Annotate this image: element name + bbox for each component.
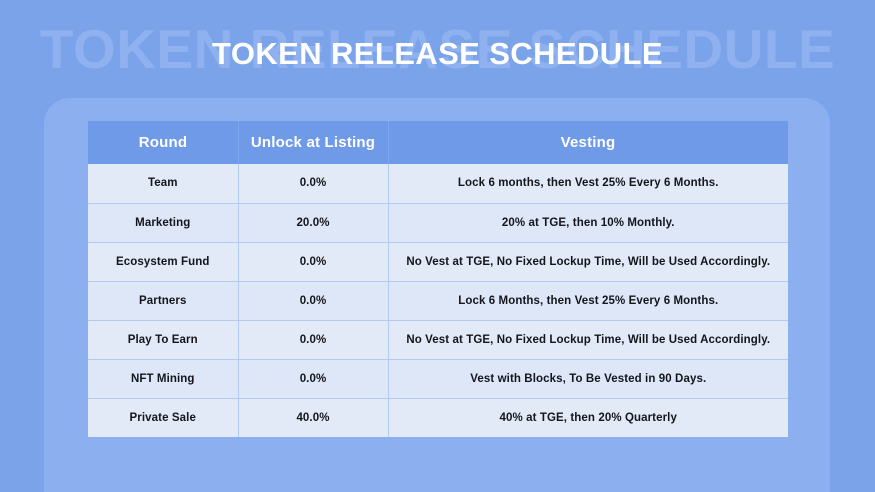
cell-vesting: No Vest at TGE, No Fixed Lockup Time, Wi… <box>388 320 788 359</box>
cell-unlock: 20.0% <box>238 203 388 242</box>
cell-round: Marketing <box>88 203 238 242</box>
cell-round: Private Sale <box>88 398 238 437</box>
token-release-table: Round Unlock at Listing Vesting Team0.0%… <box>88 121 788 437</box>
cell-unlock: 40.0% <box>238 398 388 437</box>
page-title: TOKEN RELEASE SCHEDULE <box>0 38 875 71</box>
cell-vesting: Vest with Blocks, To Be Vested in 90 Day… <box>388 359 788 398</box>
cell-vesting: Lock 6 months, then Vest 25% Every 6 Mon… <box>388 164 788 203</box>
cell-round: Ecosystem Fund <box>88 242 238 281</box>
table-body: Team0.0%Lock 6 months, then Vest 25% Eve… <box>88 164 788 437</box>
token-release-table-container: Round Unlock at Listing Vesting Team0.0%… <box>88 121 788 437</box>
cell-round: NFT Mining <box>88 359 238 398</box>
cell-unlock: 0.0% <box>238 242 388 281</box>
table-row: Ecosystem Fund0.0%No Vest at TGE, No Fix… <box>88 242 788 281</box>
column-header-round: Round <box>88 121 238 164</box>
cell-vesting: Lock 6 Months, then Vest 25% Every 6 Mon… <box>388 281 788 320</box>
table-header-row: Round Unlock at Listing Vesting <box>88 121 788 164</box>
cell-round: Partners <box>88 281 238 320</box>
table-row: Play To Earn0.0%No Vest at TGE, No Fixed… <box>88 320 788 359</box>
column-header-unlock-at-listing: Unlock at Listing <box>238 121 388 164</box>
cell-unlock: 0.0% <box>238 281 388 320</box>
cell-vesting: 20% at TGE, then 10% Monthly. <box>388 203 788 242</box>
cell-round: Team <box>88 164 238 203</box>
cell-unlock: 0.0% <box>238 320 388 359</box>
table-header: Round Unlock at Listing Vesting <box>88 121 788 164</box>
table-row: Team0.0%Lock 6 months, then Vest 25% Eve… <box>88 164 788 203</box>
cell-vesting: No Vest at TGE, No Fixed Lockup Time, Wi… <box>388 242 788 281</box>
table-row: Partners0.0%Lock 6 Months, then Vest 25%… <box>88 281 788 320</box>
cell-round: Play To Earn <box>88 320 238 359</box>
column-header-vesting: Vesting <box>388 121 788 164</box>
table-row: Private Sale40.0%40% at TGE, then 20% Qu… <box>88 398 788 437</box>
cell-unlock: 0.0% <box>238 164 388 203</box>
cell-vesting: 40% at TGE, then 20% Quarterly <box>388 398 788 437</box>
slide-canvas: TOKEN RELEASE SCHEDULE TOKEN RELEASE SCH… <box>0 0 875 492</box>
table-row: Marketing20.0%20% at TGE, then 10% Month… <box>88 203 788 242</box>
table-row: NFT Mining0.0%Vest with Blocks, To Be Ve… <box>88 359 788 398</box>
cell-unlock: 0.0% <box>238 359 388 398</box>
